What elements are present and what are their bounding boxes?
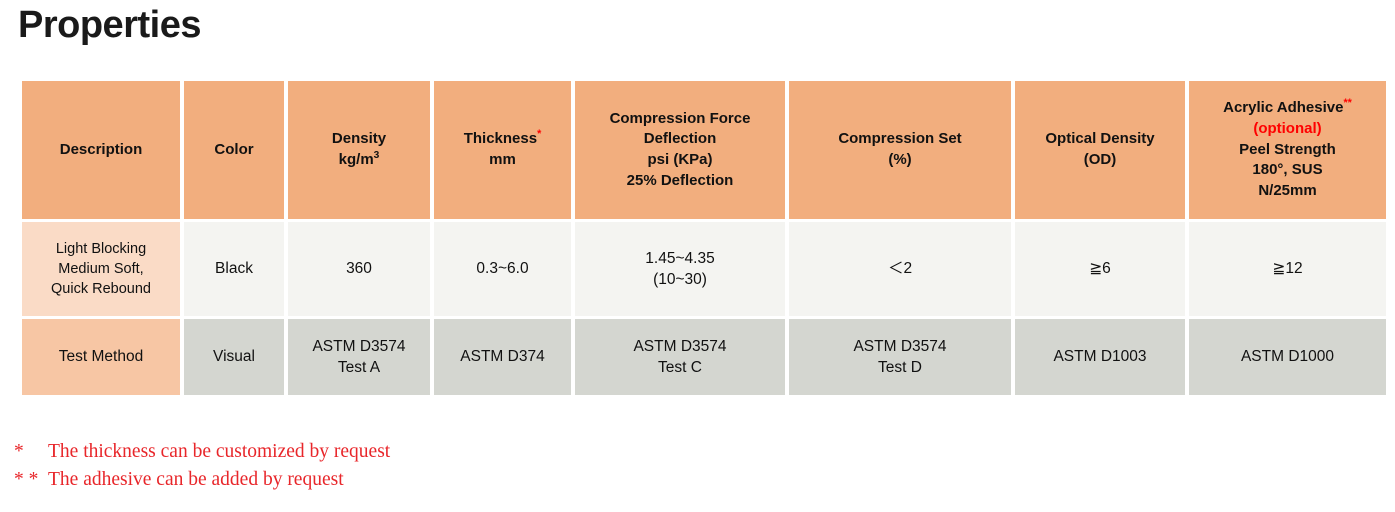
header-optical-density: Optical Density (OD) <box>1015 81 1185 219</box>
header-density-line2: kg/m3 <box>292 150 426 171</box>
footnote-marker-double: ** <box>1343 97 1351 109</box>
cell-density: 360 <box>288 222 430 316</box>
header-thickness: Thickness* mm <box>434 81 571 219</box>
footnote-mark-single: * <box>14 438 48 466</box>
page-title: Properties <box>18 2 201 50</box>
test-cell-compression-set-line2: Test D <box>793 357 1007 378</box>
header-density-line1: Density <box>292 129 426 150</box>
cell-thickness: 0.3~6.0 <box>434 222 571 316</box>
test-cell-thickness: ASTM D374 <box>434 319 571 395</box>
footnote-text-thickness: The thickness can be customized by reque… <box>48 438 390 466</box>
header-acrylic-adhesive: Acrylic Adhesive** (optional) Peel Stren… <box>1189 81 1386 219</box>
row-label-product: Light Blocking Medium Soft, Quick Reboun… <box>22 222 180 316</box>
footnotes: * The thickness can be customized by req… <box>14 438 914 495</box>
test-cell-compression-force-deflection: ASTM D3574 Test C <box>575 319 785 395</box>
header-compression-force-deflection: Compression Force Deflection psi (KPa) 2… <box>575 81 785 219</box>
test-cell-compression-set: ASTM D3574 Test D <box>789 319 1011 395</box>
cell-cfd-value-line2: (10~30) <box>579 269 781 290</box>
cell-color-value: Black <box>215 260 253 277</box>
header-description: Description <box>22 81 180 219</box>
footnote-mark-double: * * <box>14 466 48 494</box>
test-cell-thickness-value: ASTM D374 <box>460 348 544 365</box>
cell-density-value: 360 <box>346 260 372 277</box>
test-cell-color: Visual <box>184 319 284 395</box>
properties-table: Description Color Density kg/m3 Thicknes… <box>18 78 1390 398</box>
header-thickness-label: Thickness <box>464 130 537 147</box>
test-cell-compression-set-line1: ASTM D3574 <box>793 336 1007 357</box>
test-cell-density-line1: ASTM D3574 <box>292 336 426 357</box>
product-label-line2: Medium Soft, <box>26 259 176 279</box>
test-cell-color-value: Visual <box>213 348 255 365</box>
header-cfd-line1: Compression Force <box>579 109 781 130</box>
test-cell-peel-strength-value: ASTM D1000 <box>1241 348 1334 365</box>
cell-peel-strength-value: ≧12 <box>1272 260 1302 277</box>
header-compression-set-line2: (%) <box>793 150 1007 171</box>
cell-peel-strength: ≧12 <box>1189 222 1386 316</box>
test-cell-optical-density: ASTM D1003 <box>1015 319 1185 395</box>
header-color-label: Color <box>214 141 253 158</box>
cell-optical-density: ≧6 <box>1015 222 1185 316</box>
table-row: Test Method Visual ASTM D3574 Test A AST… <box>22 319 1386 395</box>
test-cell-density-line2: Test A <box>292 357 426 378</box>
header-density-exponent: 3 <box>374 150 380 161</box>
test-cell-cfd-line1: ASTM D3574 <box>579 336 781 357</box>
test-cell-cfd-line2: Test C <box>579 357 781 378</box>
cell-compression-set-value: ＜2 <box>888 260 912 277</box>
cell-optical-density-value: ≧6 <box>1089 260 1111 277</box>
footnote-item: * * The adhesive can be added by request <box>14 466 914 494</box>
cell-cfd-value-line1: 1.45~4.35 <box>579 248 781 269</box>
test-method-label: Test Method <box>59 348 143 365</box>
header-optical-density-line2: (OD) <box>1019 150 1181 171</box>
cell-color: Black <box>184 222 284 316</box>
header-adhesive-label: Acrylic Adhesive <box>1223 99 1343 116</box>
product-label-line3: Quick Rebound <box>26 279 176 299</box>
footnote-marker-single: * <box>537 128 541 140</box>
header-optical-density-line1: Optical Density <box>1019 129 1181 150</box>
header-adhesive-line4: 180°, SUS <box>1193 160 1382 181</box>
header-cfd-line3: psi (KPa) <box>579 150 781 171</box>
row-label-test-method: Test Method <box>22 319 180 395</box>
header-thickness-line2: mm <box>438 150 567 171</box>
table-row: Light Blocking Medium Soft, Quick Reboun… <box>22 222 1386 316</box>
cell-compression-set: ＜2 <box>789 222 1011 316</box>
header-compression-set-line1: Compression Set <box>793 129 1007 150</box>
header-description-label: Description <box>60 141 143 158</box>
test-cell-optical-density-value: ASTM D1003 <box>1053 348 1146 365</box>
header-color: Color <box>184 81 284 219</box>
product-label-line1: Light Blocking <box>26 239 176 259</box>
header-compression-set: Compression Set (%) <box>789 81 1011 219</box>
table-header-row: Description Color Density kg/m3 Thicknes… <box>22 81 1386 219</box>
cell-compression-force-deflection: 1.45~4.35 (10~30) <box>575 222 785 316</box>
header-density-unit: kg/m <box>339 151 374 168</box>
cell-thickness-value: 0.3~6.0 <box>476 260 528 277</box>
footnote-text-adhesive: The adhesive can be added by request <box>48 466 344 494</box>
header-adhesive-line3: Peel Strength <box>1193 140 1382 161</box>
header-adhesive-line5: N/25mm <box>1193 181 1382 202</box>
header-cfd-line2: Deflection <box>579 129 781 150</box>
header-adhesive-optional: (optional) <box>1193 119 1382 140</box>
properties-document: Properties Description Color Density <box>0 0 1395 512</box>
header-cfd-line4: 25% Deflection <box>579 171 781 192</box>
test-cell-density: ASTM D3574 Test A <box>288 319 430 395</box>
header-density: Density kg/m3 <box>288 81 430 219</box>
header-adhesive-line1: Acrylic Adhesive** <box>1193 98 1382 119</box>
test-cell-peel-strength: ASTM D1000 <box>1189 319 1386 395</box>
footnote-item: * The thickness can be customized by req… <box>14 438 914 466</box>
header-thickness-line1: Thickness* <box>438 129 567 150</box>
